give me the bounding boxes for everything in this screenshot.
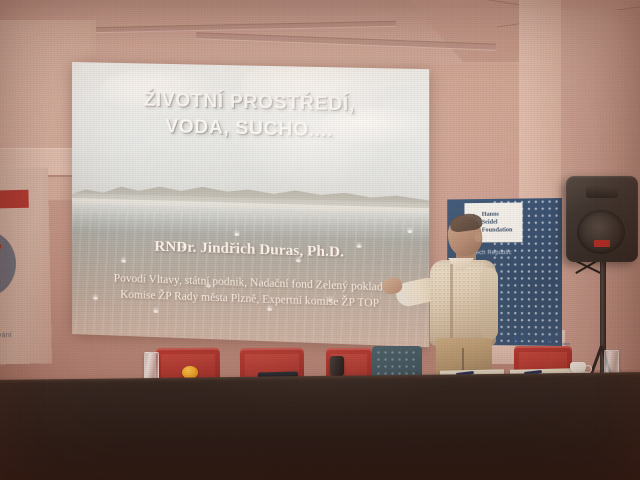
speaker-woofer [577,210,625,254]
footer-logo-text: Hanns Seidel Foundation [521,333,537,346]
banner-left-circle-logo [0,230,17,297]
rain-splash [153,310,158,313]
footer-logo-text: Hanns Seidel Foundation [553,333,569,346]
banner-left-red-bar [0,190,29,209]
conference-table [0,376,640,480]
rollup-banner-left: OP Z dělávání [0,167,52,364]
footer-logo-item: Hanns Seidel Foundation [513,333,537,346]
jbl-logo-icon [594,240,610,247]
rain-splash [234,233,239,236]
pa-speaker-jbl [566,176,638,262]
banner-left-line-1: OP [0,240,3,257]
standing-presenter [404,216,516,384]
rain-splash [121,259,126,262]
projection-screen: ŽIVOTNÍ PROSTŘEDÍ, VODA, SUCHO.... RNDr.… [72,62,429,347]
microphone-cylinder [330,356,344,376]
footer-logo-item: Hanns Seidel Foundation [545,333,569,346]
wall-column-right [519,0,561,200]
banner-left-footer-text: dělávání [0,330,12,340]
presenter-ear [474,232,482,242]
speaker-tweeter [586,186,618,198]
presenter-right-arm [480,268,498,340]
slide-title: ŽIVOTNÍ PROSTŘEDÍ, VODA, SUCHO.... [72,86,429,146]
shirt-button-placket [450,264,453,342]
diamond-logo-icon [545,335,551,345]
conference-room-photo: ŽIVOTNÍ PROSTŘEDÍ, VODA, SUCHO.... RNDr.… [0,0,640,480]
